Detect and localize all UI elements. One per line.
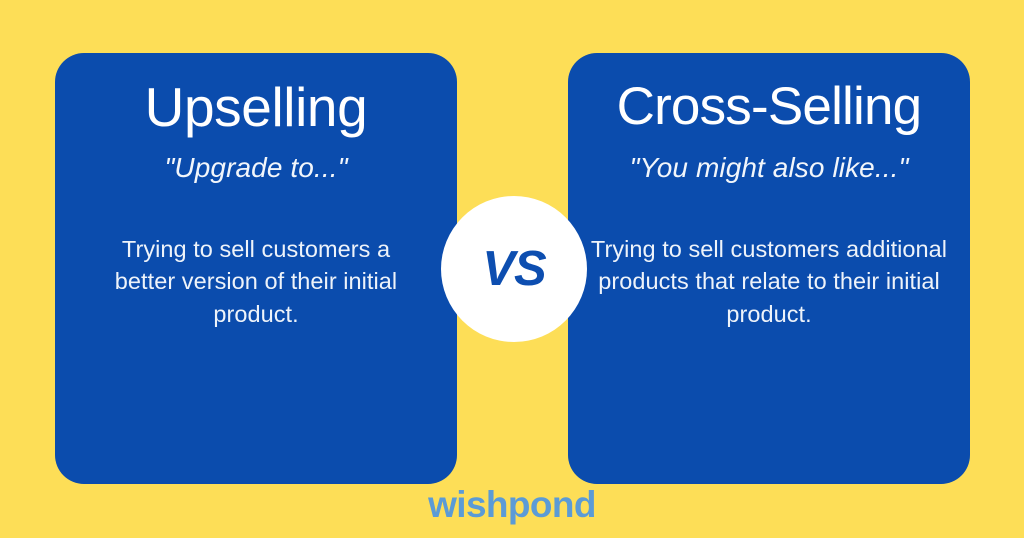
- card-subtitle-upselling: "Upgrade to...": [55, 151, 457, 185]
- versus-badge: VS: [441, 196, 587, 342]
- card-body-cross-selling: Trying to sell customers additional prod…: [568, 233, 970, 330]
- card-subtitle-cross-selling: "You might also like...": [568, 151, 970, 185]
- comparison-card-cross-selling: Cross-Selling "You might also like..." T…: [568, 53, 970, 484]
- comparison-card-upselling: Upselling "Upgrade to..." Trying to sell…: [55, 53, 457, 484]
- card-body-upselling: Trying to sell customers a better versio…: [55, 233, 457, 330]
- card-title-cross-selling: Cross-Selling: [568, 77, 970, 136]
- versus-badge-label: VS: [482, 245, 545, 294]
- infographic-canvas: Upselling "Upgrade to..." Trying to sell…: [0, 0, 1024, 538]
- wishpond-logo: wishpond: [0, 486, 1024, 523]
- card-title-upselling: Upselling: [55, 77, 457, 139]
